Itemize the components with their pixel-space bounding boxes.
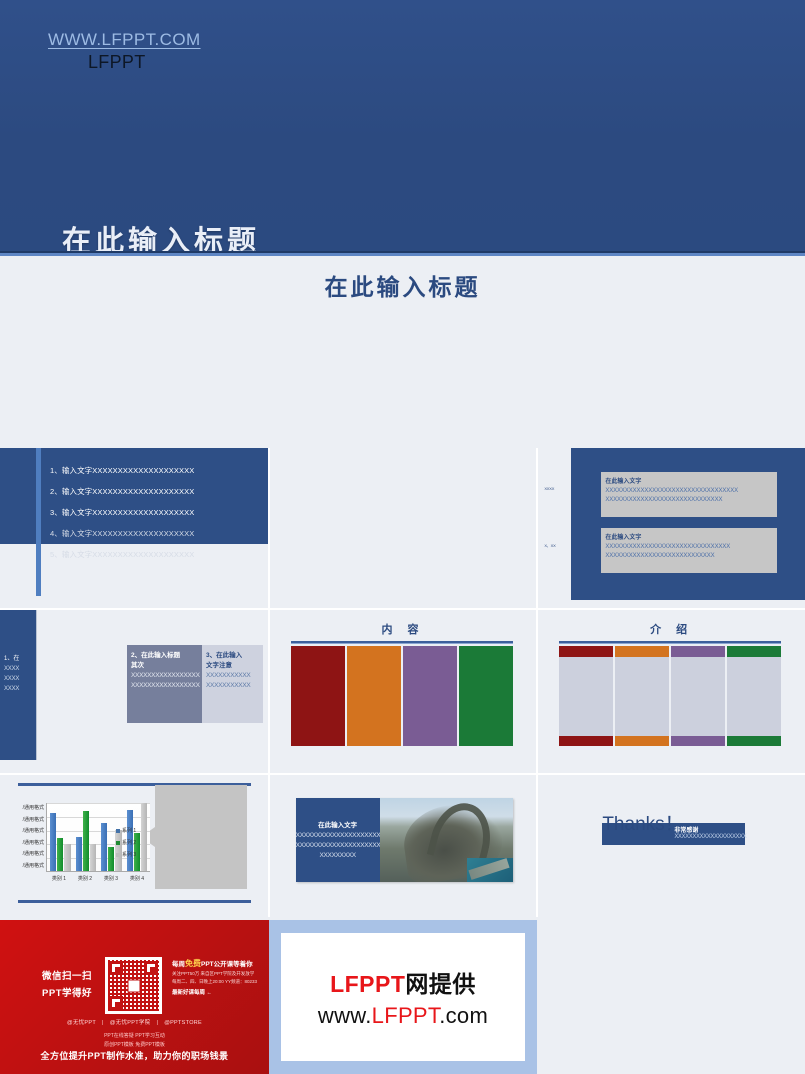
promo-link[interactable]: @PPTSTORE [164, 1020, 202, 1026]
panel-right-subheading: 文字注意 [206, 661, 259, 671]
promo-social-links: @无忧PPT|@无忧PPT学院|@PPTSTORE [0, 1018, 269, 1026]
box-line: XXXXXXXXXXXXXXXXXXXXXXXXXXXXXX [605, 496, 777, 505]
wechat-promo-banner: 微信扫一扫 PPT学得好 每周免费PPT公开课等着你 关注PPT50万 来自区P… [0, 920, 269, 1074]
chart-y-tick-label: /通用格式 [8, 849, 44, 861]
lfppt-line-2: www.LFPPT.com [318, 1003, 488, 1029]
panel-right-line: XXXXXXXXXXX [206, 671, 259, 681]
slide-thumb-photo[interactable]: 在此输入文字 XXXXXXXXXXXXXXXXXXXXXXX XXXXXXXXX… [270, 775, 537, 917]
promo-call-to-action: 微信扫一扫 PPT学得好 [42, 968, 92, 1002]
intro-column-body [615, 657, 669, 736]
intro-column-foot [615, 736, 669, 746]
box2-connector-line [571, 546, 601, 547]
chart-y-tick-label: /通用格式 [8, 838, 44, 850]
intro-slide-title: 介 绍 [538, 621, 805, 637]
chart-bar [101, 823, 107, 871]
list-item: 1、输入文字XXXXXXXXXXXXXXXXXXXX [50, 460, 268, 481]
chart-y-tick-label: /通用格式 [8, 861, 44, 873]
list-left-block [0, 448, 36, 544]
panel-right-heading: 3、在此输入 [206, 651, 259, 661]
content-column [347, 646, 401, 746]
chart-bar [64, 844, 70, 871]
promo-course-detail: 关注PPT50万 来自区PPT学院及开发放学 [172, 970, 262, 978]
list-item: 3、输入文字XXXXXXXXXXXXXXXXXXXX [50, 502, 268, 523]
chart-x-axis-labels: 类别 1类别 2类别 3类别 4 [46, 875, 150, 882]
box2-connector-label: X、XX [544, 543, 555, 549]
photo-slide-body: 在此输入文字 XXXXXXXXXXXXXXXXXXXXXXX XXXXXXXXX… [296, 798, 513, 882]
panel-left-text: 1、在 XXXX XXXX XXXX [4, 654, 38, 694]
intro-column [671, 646, 725, 746]
section-title: 在此输入标题 [0, 268, 805, 302]
slide-thumb-content-columns[interactable]: 内 容 [270, 610, 537, 773]
intro-column [559, 646, 613, 746]
chart-bar [108, 847, 114, 871]
lfppt-brand-red: LFPPT [330, 971, 405, 997]
slide-thumb-bar-chart[interactable]: /通用格式/通用格式/通用格式/通用格式/通用格式/通用格式 类别 1类别 2类… [0, 775, 268, 917]
chart-legend-swatch [116, 829, 120, 833]
panel-left-line: XXXX [4, 674, 38, 684]
box-line: XXXXXXXXXXXXXXXXXXXXXXXXXXXXXXXX [605, 543, 777, 552]
bottom-banner-row: 微信扫一扫 PPT学得好 每周免费PPT公开课等着你 关注PPT50万 来自区P… [0, 920, 805, 1074]
intro-column-body [727, 657, 781, 736]
intro-column-cap [727, 646, 781, 657]
chart-legend-label: 系列 2 [122, 837, 136, 849]
chart-x-tick-label: 类别 2 [72, 875, 98, 882]
bar-chart: /通用格式/通用格式/通用格式/通用格式/通用格式/通用格式 类别 1类别 2类… [8, 799, 158, 895]
thumbnail-row-3: /通用格式/通用格式/通用格式/通用格式/通用格式/通用格式 类别 1类别 2类… [0, 775, 805, 917]
photo-line: XXXXXXXXX [296, 851, 380, 861]
thanks-word: Thanks！ [602, 809, 683, 836]
content-column [291, 646, 345, 746]
slide-thumb-intro-columns[interactable]: 介 绍 [538, 610, 805, 773]
chart-legend-label: 系列 1 [122, 825, 136, 837]
box-line: XXXXXXXXXXXXXXXXXXXXXXXXXXXXXXXXXX [605, 487, 777, 496]
content-column [459, 646, 513, 746]
panel-left-line: XXXX [4, 684, 38, 694]
chart-x-tick-label: 类别 1 [46, 875, 72, 882]
chart-bar [83, 811, 89, 871]
intro-column-foot [727, 736, 781, 746]
slide-thumb-overview[interactable]: 概 述 输入文字XXXXXXXXXXXXXXXXXXXX 输入文字XXXXXXX… [270, 448, 537, 608]
chart-legend-entry: 系列 2 [116, 837, 136, 849]
box-heading: 在此输入文字 [605, 534, 777, 543]
promo-sub-line-1: PPT在线答疑 PPT学习互动 [0, 1032, 269, 1041]
promo-course-footnote: 最新好课每周 ← [172, 988, 262, 999]
promo-course-headline: 每周免费PPT公开课等着你 [172, 958, 262, 970]
lfppt-url-pre: www. [318, 1003, 372, 1028]
intro-column-cap [615, 646, 669, 657]
chart-bottom-rule [18, 900, 251, 903]
qr-finder-icon [144, 961, 158, 975]
chart-bar-group [76, 803, 97, 871]
cover-website-link[interactable]: WWW.LFPPT.COM [48, 30, 201, 50]
cover-slide: WWW.LFPPT.COM LFPPT 在此输入标题 [0, 0, 805, 256]
chart-y-tick-label: /通用格式 [8, 815, 44, 827]
chart-legend-label: 系列 3 [122, 849, 136, 861]
list-item: 5、输入文字XXXXXXXXXXXXXXXXXXXX [50, 544, 268, 565]
slide-thumb-two-boxes[interactable]: XXXX X、XX 在此输入文字 XXXXXXXXXXXXXXXXXXXXXXX… [538, 448, 805, 608]
cover-brand-label: LFPPT [88, 52, 146, 73]
intro-column-body [559, 657, 613, 736]
ppt-template-preview-page: WWW.LFPPT.COM LFPPT 在此输入标题 在此输入标题 1、输入文字… [0, 0, 805, 1074]
chart-y-axis-labels: /通用格式/通用格式/通用格式/通用格式/通用格式/通用格式 [8, 803, 44, 872]
thanks-placeholder-text: XXXXXXXXXXXXXXXXXXXX [674, 834, 746, 840]
content-column-group [291, 646, 513, 746]
qr-code-pattern [108, 960, 159, 1011]
promo-headline-post: PPT公开课等着你 [201, 961, 253, 968]
aerial-photo-image [380, 798, 513, 882]
lfppt-url-brand: LFPPT [372, 1003, 440, 1028]
promo-link[interactable]: @无忧PPT [67, 1020, 96, 1026]
slide-thumb-numbered-list[interactable]: 1、输入文字XXXXXXXXXXXXXXXXXXXX 2、输入文字XXXXXXX… [0, 448, 268, 608]
lfppt-brand-suffix: 网提供 [405, 971, 476, 997]
promo-cta-line-1: 微信扫一扫 [42, 968, 92, 985]
intro-column-foot [559, 736, 613, 746]
promo-course-info: 每周免费PPT公开课等着你 关注PPT50万 来自区PPT学院及开发放学 每周二… [172, 958, 262, 999]
box1-connector-line [571, 489, 601, 490]
bottom-empty-area [537, 920, 805, 1074]
chart-bar-group [50, 803, 71, 871]
lfppt-watermark-box: LFPPT网提供 www.LFPPT.com [269, 920, 537, 1074]
box-line: XXXXXXXXXXXXXXXXXXXXXXXXXXXX [605, 552, 777, 561]
thumbnail-row-2: 1、在 XXXX XXXX XXXX 2、在此输入标题 其次 XXXXXXXXX… [0, 610, 805, 773]
panel-middle: 2、在此输入标题 其次 XXXXXXXXXXXXXXXXX XXXXXXXXXX… [127, 645, 202, 723]
chart-legend-swatch [116, 853, 120, 857]
chart-bar [141, 803, 147, 871]
panel-left-line: XXXX [4, 664, 38, 674]
photo-text-panel: 在此输入文字 XXXXXXXXXXXXXXXXXXXXXXX XXXXXXXXX… [296, 798, 380, 882]
qr-center-logo [127, 979, 140, 992]
promo-footer-slogan: 全方位提升PPT制作水准，助力你的职场钱景 [0, 1049, 269, 1062]
section-title-slide: 在此输入标题 [0, 256, 805, 448]
intro-column-cap [559, 646, 613, 657]
panel-right: 3、在此输入 文字注意 XXXXXXXXXXX XXXXXXXXXXX [202, 645, 263, 723]
promo-link[interactable]: @无忧PPT学院 [110, 1020, 151, 1026]
chart-y-tick-label: /通用格式 [8, 826, 44, 838]
qr-finder-icon [109, 961, 123, 975]
list-items: 1、输入文字XXXXXXXXXXXXXXXXXXXX 2、输入文字XXXXXXX… [50, 460, 268, 565]
panel-right-line: XXXXXXXXXXX [206, 681, 259, 691]
promo-headline-highlight: 免费 [185, 959, 201, 968]
intro-title-rule [559, 641, 781, 644]
box1-connector-label: XXXX [544, 486, 554, 491]
intro-column-cap [671, 646, 725, 657]
intro-column [727, 646, 781, 746]
list-item: 4、输入文字XXXXXXXXXXXXXXXXXXXX [50, 523, 268, 544]
chart-x-tick-label: 类别 4 [124, 875, 150, 882]
intro-column-group [559, 646, 781, 746]
slide-thumb-three-panels[interactable]: 1、在 XXXX XXXX XXXX 2、在此输入标题 其次 XXXXXXXXX… [0, 610, 268, 773]
box-heading: 在此输入文字 [605, 478, 777, 487]
chart-callout-shape [155, 785, 247, 889]
photo-line: XXXXXXXXXXXXXXXXXXXXXXX [296, 841, 380, 851]
lfppt-url-post: .com [439, 1003, 488, 1028]
slide-thumbnail-grid: 1、输入文字XXXXXXXXXXXXXXXXXXXX 2、输入文字XXXXXXX… [0, 448, 805, 917]
chart-bar [76, 837, 82, 871]
panel-middle-line: XXXXXXXXXXXXXXXXX [131, 671, 198, 681]
panel-middle-heading: 2、在此输入标题 [131, 651, 198, 661]
chart-bar [90, 844, 96, 871]
qr-code[interactable] [105, 957, 162, 1014]
lfppt-line-1: LFPPT网提供 [330, 965, 476, 999]
panel-middle-subheading: 其次 [131, 661, 198, 671]
intro-column [615, 646, 669, 746]
intro-column-body [671, 657, 725, 736]
promo-cta-line-2: PPT学得好 [42, 985, 92, 1002]
content-title-rule [291, 641, 513, 644]
promo-sub-links: PPT在线答疑 PPT学习互动 原创PPT模板 免费PPT模板 [0, 1032, 269, 1050]
chart-bar [57, 838, 63, 871]
thumbnail-row-1: 1、输入文字XXXXXXXXXXXXXXXXXXXX 2、输入文字XXXXXXX… [0, 448, 805, 608]
chart-bar [50, 813, 56, 871]
chart-y-tick-label: /通用格式 [8, 803, 44, 815]
intro-column-foot [671, 736, 725, 746]
chart-legend-entry: 系列 3 [116, 849, 136, 861]
list-item: 2、输入文字XXXXXXXXXXXXXXXXXXXX [50, 481, 268, 502]
lfppt-watermark-inner: LFPPT网提供 www.LFPPT.com [281, 933, 525, 1061]
content-slide-title: 内 容 [270, 621, 537, 637]
content-column [403, 646, 457, 746]
content-box: 在此输入文字 XXXXXXXXXXXXXXXXXXXXXXXXXXXXXXXXX… [601, 472, 777, 517]
chart-legend-swatch [116, 841, 120, 845]
panel-middle-line: XXXXXXXXXXXXXXXXX [131, 681, 198, 691]
photo-heading: 在此输入文字 [296, 820, 380, 831]
photo-line: XXXXXXXXXXXXXXXXXXXXXXX [296, 831, 380, 841]
boxes-panel [571, 448, 805, 600]
content-box: 在此输入文字 XXXXXXXXXXXXXXXXXXXXXXXXXXXXXXXX … [601, 528, 777, 573]
chart-legend-entry: 系列 1 [116, 825, 136, 837]
thanks-chinese-text: 非常感谢 [674, 825, 698, 834]
chart-x-tick-label: 类别 3 [98, 875, 124, 882]
qr-finder-icon [109, 996, 123, 1010]
promo-headline-pre: 每周 [172, 961, 185, 968]
panel-left-heading: 1、在 [4, 654, 38, 664]
chart-legend: 系列 1系列 2系列 3 [116, 825, 136, 861]
promo-course-schedule: 每周二、四、日晚上20:00 YY频道：80233 [172, 978, 262, 986]
slide-thumb-thanks[interactable]: Thanks！ 非常感谢 XXXXXXXXXXXXXXXXXXXX [538, 775, 805, 917]
